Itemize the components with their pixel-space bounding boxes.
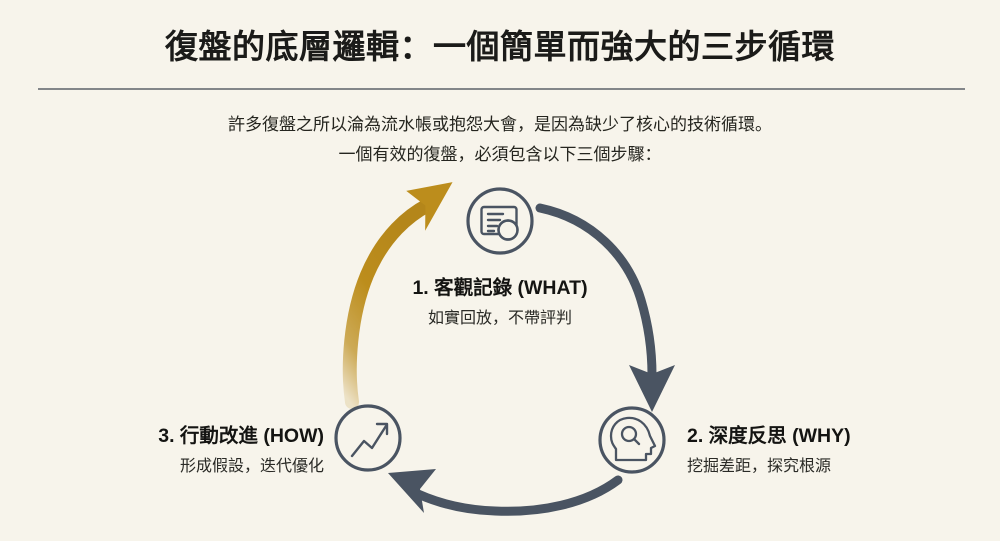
step-1-description: 如實回放，不帶評判 xyxy=(428,309,572,330)
step-2-icon-circle[interactable] xyxy=(600,408,664,472)
step-2-label: 2. 深度反思 (WHY) xyxy=(687,424,851,449)
page-title: 復盤的底層邏輯：一個簡單而強大的三步循環 xyxy=(0,26,1000,67)
subtitle-line-2: 一個有效的復盤，必須包含以下三個步驟： xyxy=(0,140,1000,170)
step-3-description: 形成假設，迭代優化 xyxy=(180,457,324,478)
subtitle-line-1: 許多復盤之所以淪為流水帳或抱怨大會，是因為缺少了核心的技術循環。 xyxy=(0,110,1000,140)
step-1-label: 1. 客觀記錄 (WHAT) xyxy=(412,276,587,301)
page-subtitle: 許多復盤之所以淪為流水帳或抱怨大會，是因為缺少了核心的技術循環。 一個有效的復盤… xyxy=(0,110,1000,170)
step-3-icon-circle[interactable] xyxy=(336,406,400,470)
step-1-icon-circle[interactable] xyxy=(468,189,532,253)
cycle-diagram xyxy=(0,0,1000,541)
step-3-label: 3. 行動改進 (HOW) xyxy=(158,424,324,449)
step-2-circle-outline xyxy=(600,408,664,472)
title-divider xyxy=(38,88,965,90)
trending-up-arrow-icon xyxy=(352,424,387,456)
slide-root: 復盤的底層邏輯：一個簡單而強大的三步循環 許多復盤之所以淪為流水帳或抱怨大會，是… xyxy=(0,0,1000,541)
step-2-description: 挖掘差距，探究根源 xyxy=(687,457,831,478)
head-magnifier-icon xyxy=(611,418,655,460)
step-3-circle-outline xyxy=(336,406,400,470)
step-1-circle-outline xyxy=(468,189,532,253)
arrow-why-to-how xyxy=(388,469,618,513)
document-report-icon xyxy=(482,207,518,240)
